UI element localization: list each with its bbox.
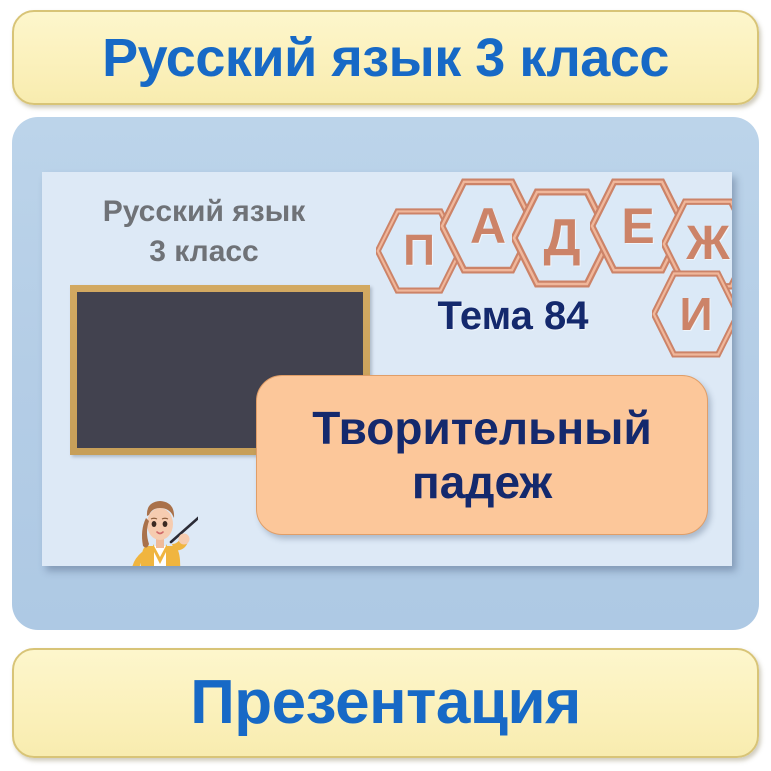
slide-heading: Русский язык 3 класс xyxy=(64,192,344,272)
case-title-line2: падеж xyxy=(412,455,552,509)
case-title-line1: Творительный xyxy=(312,401,651,455)
topic-number-label: Тема 84 xyxy=(388,294,638,339)
slide-preview[interactable]: Русский язык 3 класс xyxy=(42,172,732,566)
hexagon-letter-text: А xyxy=(470,201,506,251)
hexagon-letter-text: И xyxy=(679,291,712,337)
hexagon-letter-text: Е xyxy=(621,201,654,251)
top-banner-text: Русский язык 3 класс xyxy=(102,31,669,85)
hexagon-letter-6: И xyxy=(652,270,732,358)
hexagon-letter-text: Ж xyxy=(686,220,729,268)
slide-heading-line1: Русский язык xyxy=(103,195,306,228)
case-title-box: Творительный падеж xyxy=(256,375,708,535)
teacher-illustration xyxy=(124,494,198,566)
bottom-banner-text: Презентация xyxy=(190,672,581,734)
hexagon-letter-text: Д xyxy=(543,212,580,264)
top-banner: Русский язык 3 класс xyxy=(12,10,759,105)
hexagon-letter-text: П xyxy=(403,229,435,273)
slide-heading-line2: 3 класс xyxy=(64,232,344,272)
presentation-thumbnail: Русский язык 3 класс Русский язык 3 клас… xyxy=(0,0,771,771)
bottom-banner: Презентация xyxy=(12,648,759,758)
